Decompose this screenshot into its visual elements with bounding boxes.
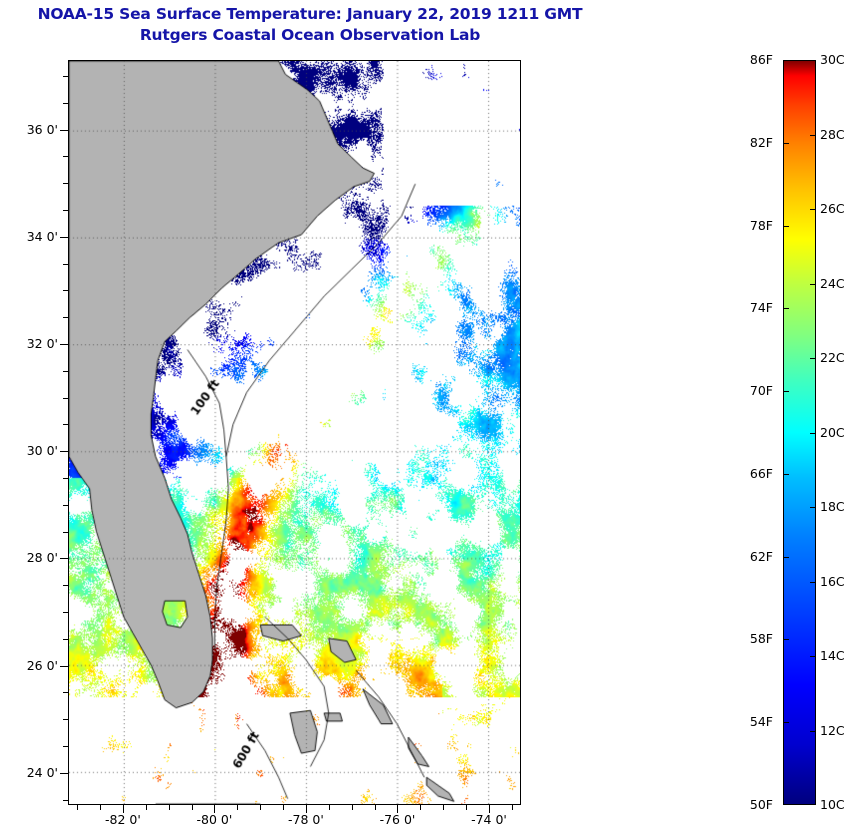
y-axis-minor-tick: [63, 639, 68, 640]
colorbar-tick-right: [810, 209, 815, 210]
page-title: NOAA-15 Sea Surface Temperature: January…: [0, 4, 620, 25]
x-axis-minor-tick: [192, 805, 193, 810]
colorbar-celsius-label: 16C: [820, 574, 849, 589]
chart-title-block: NOAA-15 Sea Surface Temperature: January…: [0, 4, 620, 46]
y-axis-minor-tick: [63, 290, 68, 291]
y-axis-minor-tick: [63, 317, 68, 318]
colorbar-tick-left: [784, 308, 789, 309]
y-axis-minor-tick: [63, 210, 68, 211]
y-axis-label: 30 0': [6, 443, 58, 458]
colorbar-tick-right: [810, 358, 815, 359]
x-axis-minor-tick: [420, 805, 421, 810]
colorbar-fahrenheit-label: 58F: [731, 631, 773, 646]
y-axis-minor-tick: [63, 719, 68, 720]
colorbar-tick-left: [784, 722, 789, 723]
y-axis-minor-tick: [63, 156, 68, 157]
x-axis-minor-tick: [375, 805, 376, 810]
x-axis-label: -80 0': [184, 812, 244, 827]
colorbar-fahrenheit-label: 70F: [731, 383, 773, 398]
sst-heatmap-canvas: [69, 61, 520, 804]
colorbar-celsius-label: 22C: [820, 350, 849, 365]
x-axis-minor-tick: [443, 805, 444, 810]
colorbar-fahrenheit-label: 78F: [731, 218, 773, 233]
colorbar-fahrenheit-label: 62F: [731, 549, 773, 564]
y-axis-minor-tick: [63, 183, 68, 184]
colorbar-celsius-label: 18C: [820, 499, 849, 514]
y-axis-minor-tick: [63, 398, 68, 399]
x-axis-minor-tick: [237, 805, 238, 810]
x-axis-minor-tick: [283, 805, 284, 810]
colorbar-celsius-label: 30C: [820, 52, 849, 67]
y-axis-label: 36 0': [6, 122, 58, 137]
y-axis-label: 32 0': [6, 336, 58, 351]
colorbar-tick-right: [810, 135, 815, 136]
colorbar-fahrenheit-label: 82F: [731, 135, 773, 150]
x-axis-minor-tick: [146, 805, 147, 810]
y-axis-minor-tick: [63, 264, 68, 265]
x-axis-minor-tick: [352, 805, 353, 810]
colorbar-tick-left: [784, 226, 789, 227]
y-axis-tick: [60, 666, 68, 667]
x-axis-label: -76 0': [367, 812, 427, 827]
x-axis-minor-tick: [100, 805, 101, 810]
colorbar-tick-right: [810, 656, 815, 657]
x-axis-minor-tick: [466, 805, 467, 810]
y-axis-tick: [60, 773, 68, 774]
colorbar-fahrenheit-label: 50F: [731, 797, 773, 812]
x-axis-minor-tick: [512, 805, 513, 810]
colorbar-tick-left: [784, 557, 789, 558]
x-axis-label: -82 0': [93, 812, 153, 827]
colorbar-tick-left: [784, 391, 789, 392]
colorbar-fahrenheit-label: 74F: [731, 300, 773, 315]
y-axis-label: 28 0': [6, 550, 58, 565]
y-axis-minor-tick: [63, 692, 68, 693]
y-axis-tick: [60, 237, 68, 238]
colorbar-tick-right: [810, 731, 815, 732]
x-axis-minor-tick: [329, 805, 330, 810]
y-axis-tick: [60, 451, 68, 452]
y-axis-minor-tick: [63, 800, 68, 801]
colorbar-fahrenheit-label: 66F: [731, 466, 773, 481]
y-axis-minor-tick: [63, 371, 68, 372]
y-axis-tick: [60, 344, 68, 345]
colorbar-celsius-label: 24C: [820, 276, 849, 291]
colorbar-celsius-label: 20C: [820, 425, 849, 440]
x-axis-minor-tick: [77, 805, 78, 810]
y-axis-label: 34 0': [6, 229, 58, 244]
colorbar-celsius-label: 28C: [820, 127, 849, 142]
y-axis-minor-tick: [63, 478, 68, 479]
y-axis-minor-tick: [63, 103, 68, 104]
sst-map-plot: [68, 60, 521, 805]
y-axis-minor-tick: [63, 746, 68, 747]
x-axis-label: -74 0': [459, 812, 519, 827]
colorbar-tick-left: [784, 143, 789, 144]
y-axis-tick: [60, 558, 68, 559]
y-axis-minor-tick: [63, 532, 68, 533]
colorbar-tick-right: [810, 507, 815, 508]
colorbar-tick-right: [810, 284, 815, 285]
colorbar-tick-left: [784, 474, 789, 475]
colorbar-celsius-label: 26C: [820, 201, 849, 216]
x-axis-minor-tick: [260, 805, 261, 810]
page-subtitle: Rutgers Coastal Ocean Observation Lab: [0, 25, 620, 46]
y-axis-minor-tick: [63, 585, 68, 586]
colorbar-fahrenheit-label: 54F: [731, 714, 773, 729]
y-axis-label: 24 0': [6, 765, 58, 780]
colorbar-celsius-label: 12C: [820, 723, 849, 738]
colorbar-celsius-label: 10C: [820, 797, 849, 812]
y-axis-label: 26 0': [6, 658, 58, 673]
colorbar-tick-left: [784, 639, 789, 640]
y-axis-minor-tick: [63, 424, 68, 425]
colorbar-celsius-label: 14C: [820, 648, 849, 663]
y-axis-minor-tick: [63, 505, 68, 506]
y-axis-minor-tick: [63, 76, 68, 77]
y-axis-minor-tick: [63, 612, 68, 613]
colorbar-tick-right: [810, 433, 815, 434]
colorbar-tick-right: [810, 582, 815, 583]
x-axis-minor-tick: [169, 805, 170, 810]
y-axis-tick: [60, 130, 68, 131]
x-axis-label: -78 0': [276, 812, 336, 827]
colorbar-fahrenheit-label: 86F: [731, 52, 773, 67]
